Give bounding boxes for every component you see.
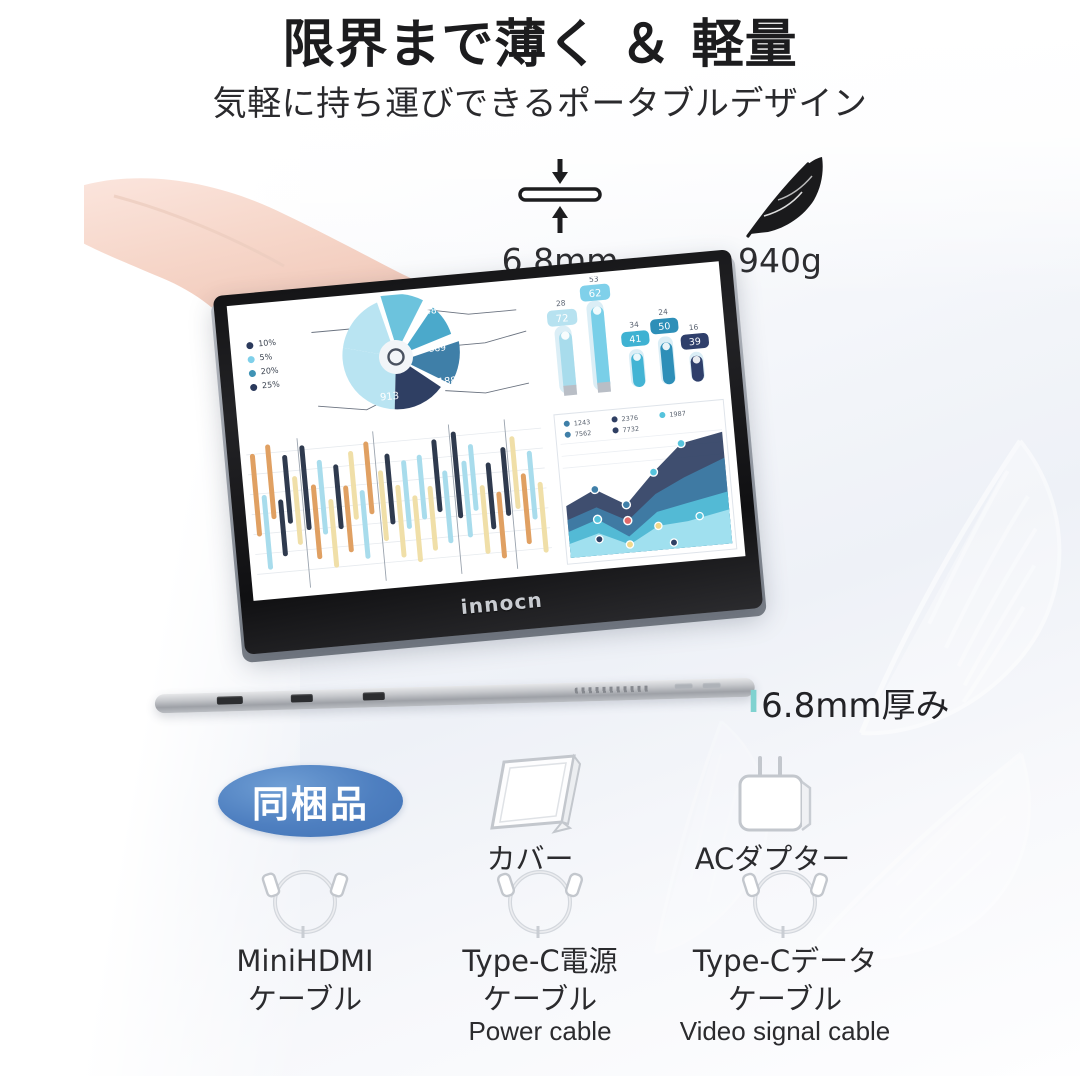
accessory-video-label-2: ケーブル: [650, 982, 920, 1016]
accessory-video-cable: Type-Cデータ ケーブル Video signal cable: [650, 868, 920, 1047]
svg-text:34: 34: [629, 320, 640, 330]
svg-text:50: 50: [658, 321, 671, 333]
caliper-icon: I: [748, 685, 759, 720]
accessory-minihdmi-label-1: MiniHDMI: [185, 944, 425, 978]
svg-text:53: 53: [589, 274, 600, 284]
svg-text:62: 62: [588, 288, 602, 300]
accessory-video-label-1: Type-Cデータ: [650, 944, 920, 978]
thickness-callout-text: 6.8mm厚み: [761, 678, 949, 727]
included-items-badge: 同梱品: [218, 765, 403, 837]
svg-text:28: 28: [556, 298, 567, 308]
feather-icon: [690, 153, 870, 239]
page-title: 限界まで薄く ＆ 軽量: [0, 2, 1080, 77]
chart-candlestick-panel: [243, 412, 556, 597]
page-subtitle: 気軽に持ち運びできるポータブルデザイン: [0, 76, 1080, 125]
chart-area-panel: 1243 2376 1987 7562 7732: [550, 395, 742, 568]
accessory-minihdmi-label-2: ケーブル: [185, 982, 425, 1016]
svg-text:24: 24: [658, 307, 669, 317]
ac-adapter-icon: [665, 752, 880, 838]
coiled-cable-icon: [185, 868, 425, 940]
accessory-power-label-2: ケーブル: [420, 982, 660, 1016]
coiled-cable-icon: [420, 868, 660, 940]
button-2: [703, 683, 721, 689]
thickness-callout: I 6.8mm厚み: [748, 678, 949, 727]
svg-text:16: 16: [688, 322, 699, 332]
svg-text:589: 589: [428, 343, 446, 355]
brand-logo-text: innocn: [460, 588, 544, 619]
coiled-cable-icon: [650, 868, 920, 940]
button-1: [675, 683, 693, 689]
svg-text:7562: 7562: [574, 429, 591, 438]
accessory-video-label-en: Video signal cable: [650, 1016, 920, 1047]
svg-text:913: 913: [380, 391, 400, 404]
tablet-cover-stand-icon: [430, 752, 630, 838]
pie-legend: 10% 5% 20% 25%: [246, 336, 281, 394]
svg-text:41: 41: [629, 334, 642, 346]
included-items-badge-label: 同梱品: [252, 774, 369, 828]
portable-monitor: 348 589 1883 913 10% 5% 20% 25%: [213, 249, 763, 655]
chart-pie-panel: 348 589 1883 913 10% 5% 20% 25%: [231, 283, 541, 434]
accessory-cover: カバー: [430, 752, 630, 876]
svg-text:2376: 2376: [621, 414, 638, 423]
svg-text:348: 348: [419, 306, 437, 318]
usb-c-port-1: [291, 694, 313, 703]
svg-text:72: 72: [555, 313, 569, 325]
accessory-power-label-en: Power cable: [420, 1016, 660, 1047]
svg-text:7732: 7732: [622, 425, 639, 434]
monitor-screen: 348 589 1883 913 10% 5% 20% 25%: [227, 261, 746, 601]
accessory-minihdmi-cable: MiniHDMI ケーブル: [185, 868, 425, 1016]
svg-text:1987: 1987: [669, 409, 686, 418]
accessory-power-cable: Type-C電源 ケーブル Power cable: [420, 868, 660, 1047]
mini-hdmi-port: [217, 696, 243, 705]
svg-text:1243: 1243: [573, 418, 590, 427]
legend-item: 10%: [246, 336, 277, 353]
accessory-ac-adapter: ACダプター: [665, 752, 880, 876]
svg-text:1883: 1883: [437, 375, 463, 388]
chart-bar-panel: 72 62 41 50 39 28 53 34 24 16: [538, 266, 727, 406]
legend-item: 25%: [250, 378, 281, 395]
accessory-power-label-1: Type-C電源: [420, 944, 660, 978]
svg-text:39: 39: [688, 336, 701, 348]
usb-c-port-2: [363, 692, 385, 701]
monitor-profile-body: [155, 678, 755, 714]
